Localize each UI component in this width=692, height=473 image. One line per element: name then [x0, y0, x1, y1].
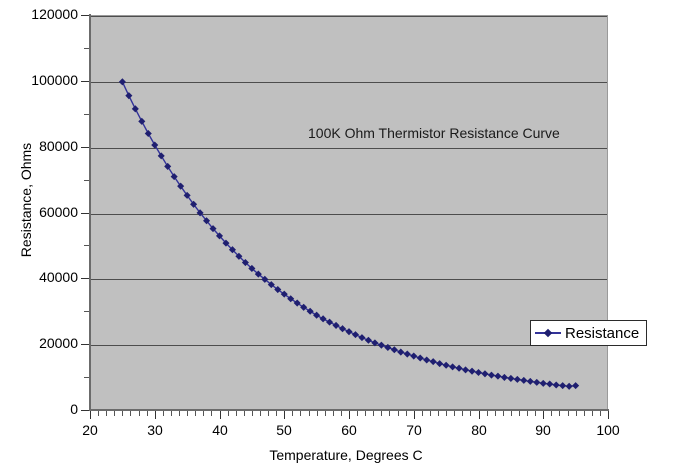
- x-tick-minor: [325, 411, 326, 416]
- x-tick-major: [349, 411, 350, 419]
- x-tick-minor: [179, 411, 180, 416]
- x-tick-minor: [276, 411, 277, 416]
- data-point-marker: [397, 349, 404, 356]
- y-tick-major: [81, 410, 89, 411]
- y-tick-label: 20000: [0, 336, 78, 350]
- x-tick-minor: [576, 411, 577, 416]
- x-tick-minor: [365, 411, 366, 416]
- data-point-marker: [138, 118, 145, 125]
- x-tick-minor: [333, 411, 334, 416]
- x-tick-label: 90: [523, 423, 563, 437]
- x-tick-label: 30: [135, 423, 175, 437]
- data-point-marker: [320, 315, 327, 322]
- data-point-marker: [158, 152, 165, 159]
- data-point-marker: [449, 363, 456, 370]
- x-tick-major: [479, 411, 480, 419]
- x-tick-minor: [470, 411, 471, 416]
- data-point-marker: [507, 375, 514, 382]
- data-point-marker: [462, 366, 469, 373]
- x-tick-minor: [462, 411, 463, 416]
- y-tick-major: [81, 147, 89, 148]
- data-point-marker: [339, 325, 346, 332]
- data-point-marker: [494, 373, 501, 380]
- x-tick-minor: [584, 411, 585, 416]
- x-tick-label: 50: [264, 423, 304, 437]
- data-point-marker: [119, 78, 126, 85]
- data-point-marker: [423, 356, 430, 363]
- x-tick-minor: [147, 411, 148, 416]
- y-tick-label: 120000: [0, 7, 78, 21]
- x-tick-minor: [195, 411, 196, 416]
- x-axis-title: Temperature, Degrees C: [0, 447, 692, 463]
- y-axis-title: Resistance, Ohms: [18, 110, 34, 290]
- data-point-marker: [417, 354, 424, 361]
- x-tick-label: 80: [459, 423, 499, 437]
- y-tick-major: [81, 15, 89, 16]
- data-point-marker: [404, 351, 411, 358]
- x-tick-minor: [446, 411, 447, 416]
- y-tick-major: [81, 81, 89, 82]
- y-axis-line: [89, 14, 91, 411]
- x-tick-minor: [430, 411, 431, 416]
- x-tick-minor: [114, 411, 115, 416]
- data-point-marker: [326, 319, 333, 326]
- x-tick-minor: [228, 411, 229, 416]
- x-tick-minor: [236, 411, 237, 416]
- x-tick-minor: [527, 411, 528, 416]
- chart-title: 100K Ohm Thermistor Resistance Curve: [308, 125, 560, 141]
- x-tick-minor: [244, 411, 245, 416]
- data-point-marker: [456, 365, 463, 372]
- x-tick-minor: [357, 411, 358, 416]
- x-tick-minor: [292, 411, 293, 416]
- data-point-marker: [527, 378, 534, 385]
- x-tick-minor: [130, 411, 131, 416]
- x-tick-minor: [535, 411, 536, 416]
- x-tick-minor: [106, 411, 107, 416]
- data-point-marker: [384, 344, 391, 351]
- x-tick-major: [608, 411, 609, 419]
- x-tick-minor: [211, 411, 212, 416]
- data-point-marker: [488, 372, 495, 379]
- y-tick-minor: [84, 48, 89, 49]
- data-point-marker: [132, 105, 139, 112]
- data-point-marker: [501, 374, 508, 381]
- legend-marker-icon: [535, 327, 561, 339]
- x-tick-minor: [389, 411, 390, 416]
- x-tick-minor: [511, 411, 512, 416]
- x-tick-major: [155, 411, 156, 419]
- chart-container: 100K Ohm Thermistor Resistance Curve Res…: [0, 0, 692, 473]
- data-point-marker: [430, 358, 437, 365]
- x-tick-major: [220, 411, 221, 419]
- x-tick-minor: [398, 411, 399, 416]
- data-point-marker: [313, 312, 320, 319]
- y-tick-minor: [84, 377, 89, 378]
- y-tick-label: 40000: [0, 270, 78, 284]
- plot-area: 100K Ohm Thermistor Resistance Curve Res…: [90, 15, 608, 410]
- y-tick-minor: [84, 245, 89, 246]
- data-point-marker: [559, 382, 566, 389]
- x-tick-minor: [317, 411, 318, 416]
- x-tick-label: 20: [70, 423, 110, 437]
- x-tick-minor: [163, 411, 164, 416]
- x-tick-minor: [495, 411, 496, 416]
- data-point-marker: [514, 376, 521, 383]
- data-point-marker: [378, 342, 385, 349]
- y-tick-major: [81, 213, 89, 214]
- data-point-marker: [546, 380, 553, 387]
- x-tick-minor: [487, 411, 488, 416]
- x-tick-minor: [503, 411, 504, 416]
- data-point-marker: [391, 346, 398, 353]
- data-point-marker: [151, 141, 158, 148]
- x-tick-major: [414, 411, 415, 419]
- x-tick-minor: [600, 411, 601, 416]
- x-tick-label: 70: [394, 423, 434, 437]
- x-tick-major: [543, 411, 544, 419]
- data-point-marker: [468, 368, 475, 375]
- series-line-resistance: [90, 16, 608, 411]
- x-tick-minor: [260, 411, 261, 416]
- x-tick-minor: [252, 411, 253, 416]
- data-point-marker: [352, 331, 359, 338]
- x-tick-minor: [519, 411, 520, 416]
- x-tick-minor: [171, 411, 172, 416]
- x-tick-label: 40: [200, 423, 240, 437]
- legend-entry-label: Resistance: [565, 325, 639, 342]
- data-point-marker: [164, 163, 171, 170]
- x-tick-minor: [300, 411, 301, 416]
- x-tick-label: 100: [588, 423, 628, 437]
- x-tick-major: [284, 411, 285, 419]
- x-tick-major: [90, 411, 91, 419]
- data-point-marker: [572, 382, 579, 389]
- data-point-marker: [125, 92, 132, 99]
- x-tick-minor: [568, 411, 569, 416]
- y-tick-minor: [84, 311, 89, 312]
- data-point-marker: [436, 360, 443, 367]
- x-tick-minor: [187, 411, 188, 416]
- y-tick-label: 0: [0, 402, 78, 416]
- data-point-marker: [358, 334, 365, 341]
- x-tick-minor: [381, 411, 382, 416]
- y-tick-major: [81, 278, 89, 279]
- x-tick-minor: [551, 411, 552, 416]
- x-tick-minor: [454, 411, 455, 416]
- data-point-marker: [553, 381, 560, 388]
- x-tick-minor: [268, 411, 269, 416]
- data-point-marker: [145, 130, 152, 137]
- data-point-marker: [475, 369, 482, 376]
- y-tick-label: 60000: [0, 205, 78, 219]
- data-point-marker: [520, 377, 527, 384]
- x-tick-minor: [373, 411, 374, 416]
- x-tick-label: 60: [329, 423, 369, 437]
- data-point-marker: [371, 339, 378, 346]
- y-tick-label: 80000: [0, 139, 78, 153]
- x-tick-minor: [406, 411, 407, 416]
- data-point-marker: [333, 322, 340, 329]
- x-tick-minor: [422, 411, 423, 416]
- x-tick-minor: [341, 411, 342, 416]
- x-tick-minor: [122, 411, 123, 416]
- data-point-marker: [443, 362, 450, 369]
- x-tick-minor: [559, 411, 560, 416]
- data-point-marker: [410, 352, 417, 359]
- chart-legend[interactable]: Resistance: [530, 320, 647, 346]
- x-tick-minor: [438, 411, 439, 416]
- y-tick-minor: [84, 114, 89, 115]
- x-tick-minor: [98, 411, 99, 416]
- data-point-marker: [345, 328, 352, 335]
- data-point-marker: [566, 383, 573, 390]
- y-tick-minor: [84, 180, 89, 181]
- y-tick-major: [81, 344, 89, 345]
- y-tick-label: 100000: [0, 73, 78, 87]
- data-point-marker: [533, 379, 540, 386]
- data-point-marker: [481, 370, 488, 377]
- data-point-marker: [307, 308, 314, 315]
- x-tick-minor: [139, 411, 140, 416]
- x-tick-minor: [309, 411, 310, 416]
- x-tick-minor: [592, 411, 593, 416]
- x-tick-minor: [203, 411, 204, 416]
- data-point-marker: [540, 380, 547, 387]
- data-point-marker: [365, 337, 372, 344]
